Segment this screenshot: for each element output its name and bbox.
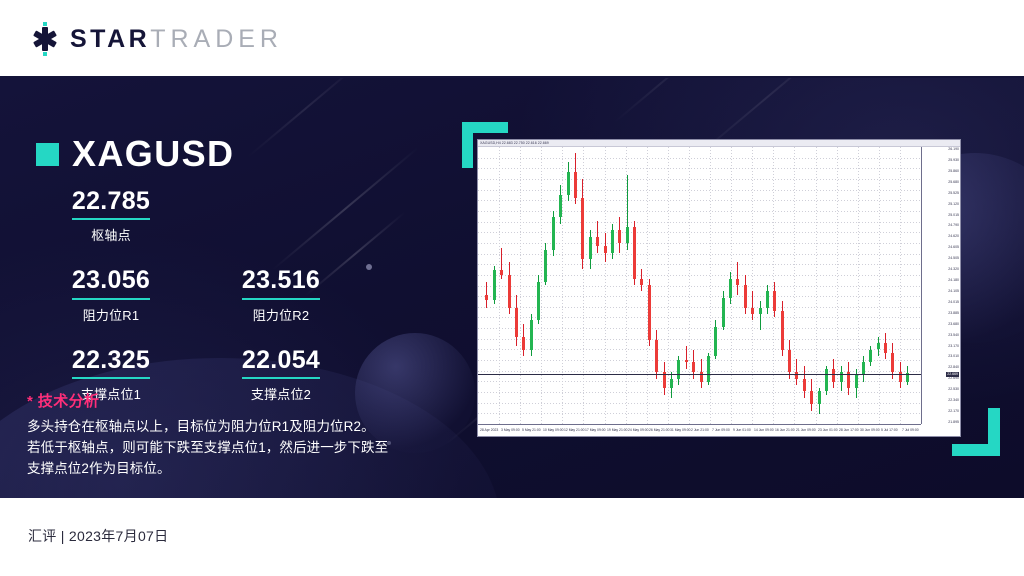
candle [626,147,629,424]
candle [825,147,828,424]
price-tick-label: 21.895 [948,420,959,424]
candle [677,147,680,424]
price-tick-label: 23.680 [948,322,959,326]
candle [500,147,503,424]
candle [663,147,666,424]
candle [729,147,732,424]
support-2-value: 22.054 [242,347,320,379]
candle [559,147,562,424]
candle [537,147,540,424]
candle [877,147,880,424]
price-tick-label: 23.170 [948,344,959,348]
price-tick-label: 23.010 [948,354,959,358]
candle [567,147,570,424]
price-tick-label: 25.015 [948,213,959,217]
resistance-2-label: 阻力位R2 [206,305,356,324]
time-tick-label: 28 Apr 2023 [480,428,498,432]
candle [840,147,843,424]
candle [692,147,695,424]
symbol-name: XAGUSD [72,136,234,172]
price-tick-label: 22.170 [948,409,959,413]
support-1-value: 22.325 [72,347,150,379]
time-tick-label: 10 May 09:00 [543,428,564,432]
candle [744,147,747,424]
analysis-line-2: 若低于枢轴点，则可能下跌至支撑点位1，然后进一步下跌至 [27,438,427,459]
time-tick-label: 23 Jun 01:00 [818,428,838,432]
candle [700,147,703,424]
candle [891,147,894,424]
chart-plot-area[interactable] [478,147,921,424]
resistance-1-value: 23.056 [72,267,150,299]
candle [515,147,518,424]
technical-analysis: * 技术分析 多头持仓在枢轴点以上，目标位为阻力位R1及阻力位R2。 若低于枢轴… [27,390,427,480]
candle [618,147,621,424]
analysis-title: * 技术分析 [27,390,427,411]
pivot-point-label: 枢轴点 [36,225,186,244]
candle [544,147,547,424]
candle [722,147,725,424]
price-tick-label: 22.840 [948,365,959,369]
price-tick-label: 22.530 [948,387,959,391]
time-tick-label: 7 Jun 09:00 [712,428,730,432]
price-tick-label: 24.320 [948,267,959,271]
analysis-line-3: 支撑点位2作为目标位。 [27,459,427,480]
time-tick-label: 21 Jun 09:00 [796,428,816,432]
candle [581,147,584,424]
candle [906,147,909,424]
symbol-heading: XAGUSD [36,136,234,172]
time-tick-label: 24 May 09:00 [628,428,649,432]
candle [655,147,658,424]
price-tick-label: 26.190 [948,147,959,151]
candle [574,147,577,424]
pivot-point-value: 22.785 [72,188,150,220]
brand-name-light: TRADER [150,25,283,53]
candle [604,147,607,424]
time-tick-label: 30 Jun 09:00 [860,428,880,432]
candle [795,147,798,424]
candle [781,147,784,424]
candle [670,147,673,424]
brand-logo[interactable]: STARTRADER [28,22,283,56]
price-tick-label: 25.120 [948,202,959,206]
price-chart[interactable]: XAGUSD,H4 22.683 22.750 22.616 22.669 26… [477,139,961,437]
candle [899,147,902,424]
candle [736,147,739,424]
candle [847,147,850,424]
price-tick-label: 25.930 [948,158,959,162]
main-stage: XAGUSD 22.785 枢轴点 23.056 阻力位R1 23.516 阻力… [0,78,1024,498]
time-tick-label: 5 Jul 17:00 [881,428,898,432]
candle [855,147,858,424]
candle [862,147,865,424]
time-axis: 28 Apr 20233 May 09:005 May 21:0010 May … [478,424,921,436]
candle [884,147,887,424]
time-tick-label: 17 May 09:00 [585,428,606,432]
price-tick-label: 24.620 [948,234,959,238]
price-tick-label: 22.340 [948,398,959,402]
price-tick-label: 24.605 [948,245,959,249]
candle [633,147,636,424]
price-tick-label: 25.680 [948,180,959,184]
candle [766,147,769,424]
time-tick-label: 3 May 09:00 [501,428,520,432]
candle [522,147,525,424]
time-tick-label: 12 May 21:00 [564,428,585,432]
price-tick-label: 25.860 [948,169,959,173]
time-tick-label: 19 May 21:00 [607,428,628,432]
candle [530,147,533,424]
time-tick-label: 26 May 21:00 [649,428,670,432]
candle [648,147,651,424]
candle [685,147,688,424]
candle [485,147,488,424]
candle [832,147,835,424]
candle [707,147,710,424]
price-tick-label: 24.015 [948,300,959,304]
pivot-levels: 22.785 枢轴点 23.056 阻力位R1 23.516 阻力位R2 22.… [36,188,376,403]
page-header: STARTRADER [0,0,1024,78]
time-tick-label: 9 Jun 01:00 [733,428,751,432]
time-tick-label: 28 Jun 17:00 [839,428,859,432]
candle [589,147,592,424]
resistance-1-label: 阻力位R1 [36,305,186,324]
brand-name-bold: STAR [70,25,150,53]
square-bullet-icon [36,143,59,166]
candle [759,147,762,424]
current-price-label: 22.669 [946,372,959,377]
analysis-line-1: 多头持仓在枢轴点以上，目标位为阻力位R1及阻力位R2。 [27,417,427,438]
time-tick-label: 14 Jun 09:00 [754,428,774,432]
candle [773,147,776,424]
time-tick-label: 7 Jul 09:00 [902,428,919,432]
candle [869,147,872,424]
candle [810,147,813,424]
candle [818,147,821,424]
candle [640,147,643,424]
candle [714,147,717,424]
price-tick-label: 25.525 [948,191,959,195]
time-tick-label: 16 Jun 21:00 [775,428,795,432]
candle [508,147,511,424]
resistance-2-cell: 23.516 阻力位R2 [206,267,356,323]
price-tick-label: 24.790 [948,223,959,227]
asterisk-star-icon [28,22,62,56]
pivot-point-cell: 22.785 枢轴点 [36,188,186,244]
resistance-1-cell: 23.056 阻力位R1 [36,267,186,323]
price-tick-label: 24.505 [948,256,959,260]
candle [803,147,806,424]
time-tick-label: 2 Jun 21:00 [691,428,709,432]
candle [751,147,754,424]
time-tick-label: 5 May 21:00 [522,428,541,432]
chart-title: XAGUSD,H4 22.683 22.750 22.616 22.669 [478,140,960,147]
candle [611,147,614,424]
candle [493,147,496,424]
price-axis: 26.19025.93025.86025.68025.52525.12025.0… [921,147,960,424]
time-tick-label: 31 May 09:00 [670,428,691,432]
price-tick-label: 23.885 [948,311,959,315]
price-tick-label: 24.105 [948,289,959,293]
candle [552,147,555,424]
current-price-line [478,374,921,375]
price-tick-label: 23.540 [948,333,959,337]
price-tick-label: 24.180 [948,278,959,282]
resistance-2-value: 23.516 [242,267,320,299]
candle [788,147,791,424]
footer-caption: 汇评 | 2023年7月07日 [28,526,168,546]
candle [596,147,599,424]
page-footer: 汇评 | 2023年7月07日 [0,498,1024,576]
